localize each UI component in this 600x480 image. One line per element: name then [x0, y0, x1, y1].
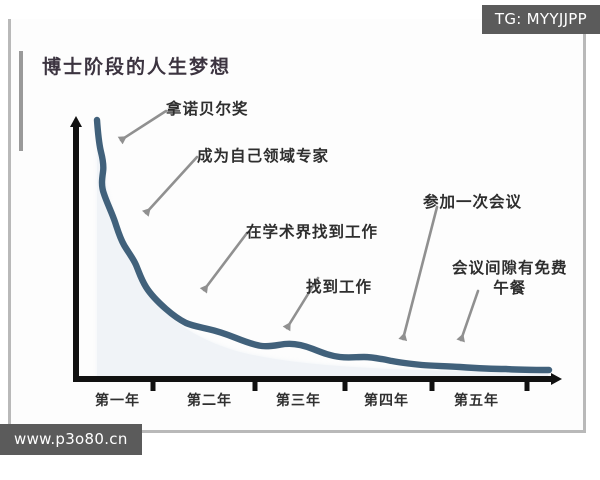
arrow-free-lunch [461, 291, 478, 340]
page-title: 博士阶段的人生梦想 [42, 52, 231, 79]
telegram-watermark-badge: TG: MYYJJPP [482, 5, 600, 34]
annotation-label-academic-job: 在学术界找到工作 [246, 222, 378, 242]
annotation-label-any-job: 找到工作 [306, 277, 372, 297]
x-axis-label-year-1: 第一年 [95, 390, 140, 410]
annotation-label-nobel: 拿诺贝尔奖 [166, 99, 249, 119]
x-axis-label-year-3: 第三年 [276, 390, 321, 410]
x-axis-label-year-2: 第二年 [187, 390, 232, 410]
meme-chart-image: 博士阶段的人生梦想 拿诺贝尔奖 成为自己领域专家 在学术界找到工作 找到工作 参… [0, 0, 600, 480]
annotation-label-conference: 参加一次会议 [423, 192, 522, 212]
annotation-label-expert: 成为自己领域专家 [197, 146, 329, 166]
annotation-label-free-lunch: 会议间隙有免费 午餐 [452, 258, 568, 298]
x-axis-label-year-5: 第五年 [454, 390, 499, 410]
title-side-bar [19, 51, 23, 151]
arrow-nobel [121, 111, 166, 140]
arrow-expert [146, 157, 197, 213]
x-axis-label-year-4: 第四年 [364, 390, 409, 410]
website-watermark-badge: www.p3o80.cn [0, 424, 142, 455]
arrow-academic-job [204, 233, 247, 290]
arrow-conference [403, 207, 437, 339]
